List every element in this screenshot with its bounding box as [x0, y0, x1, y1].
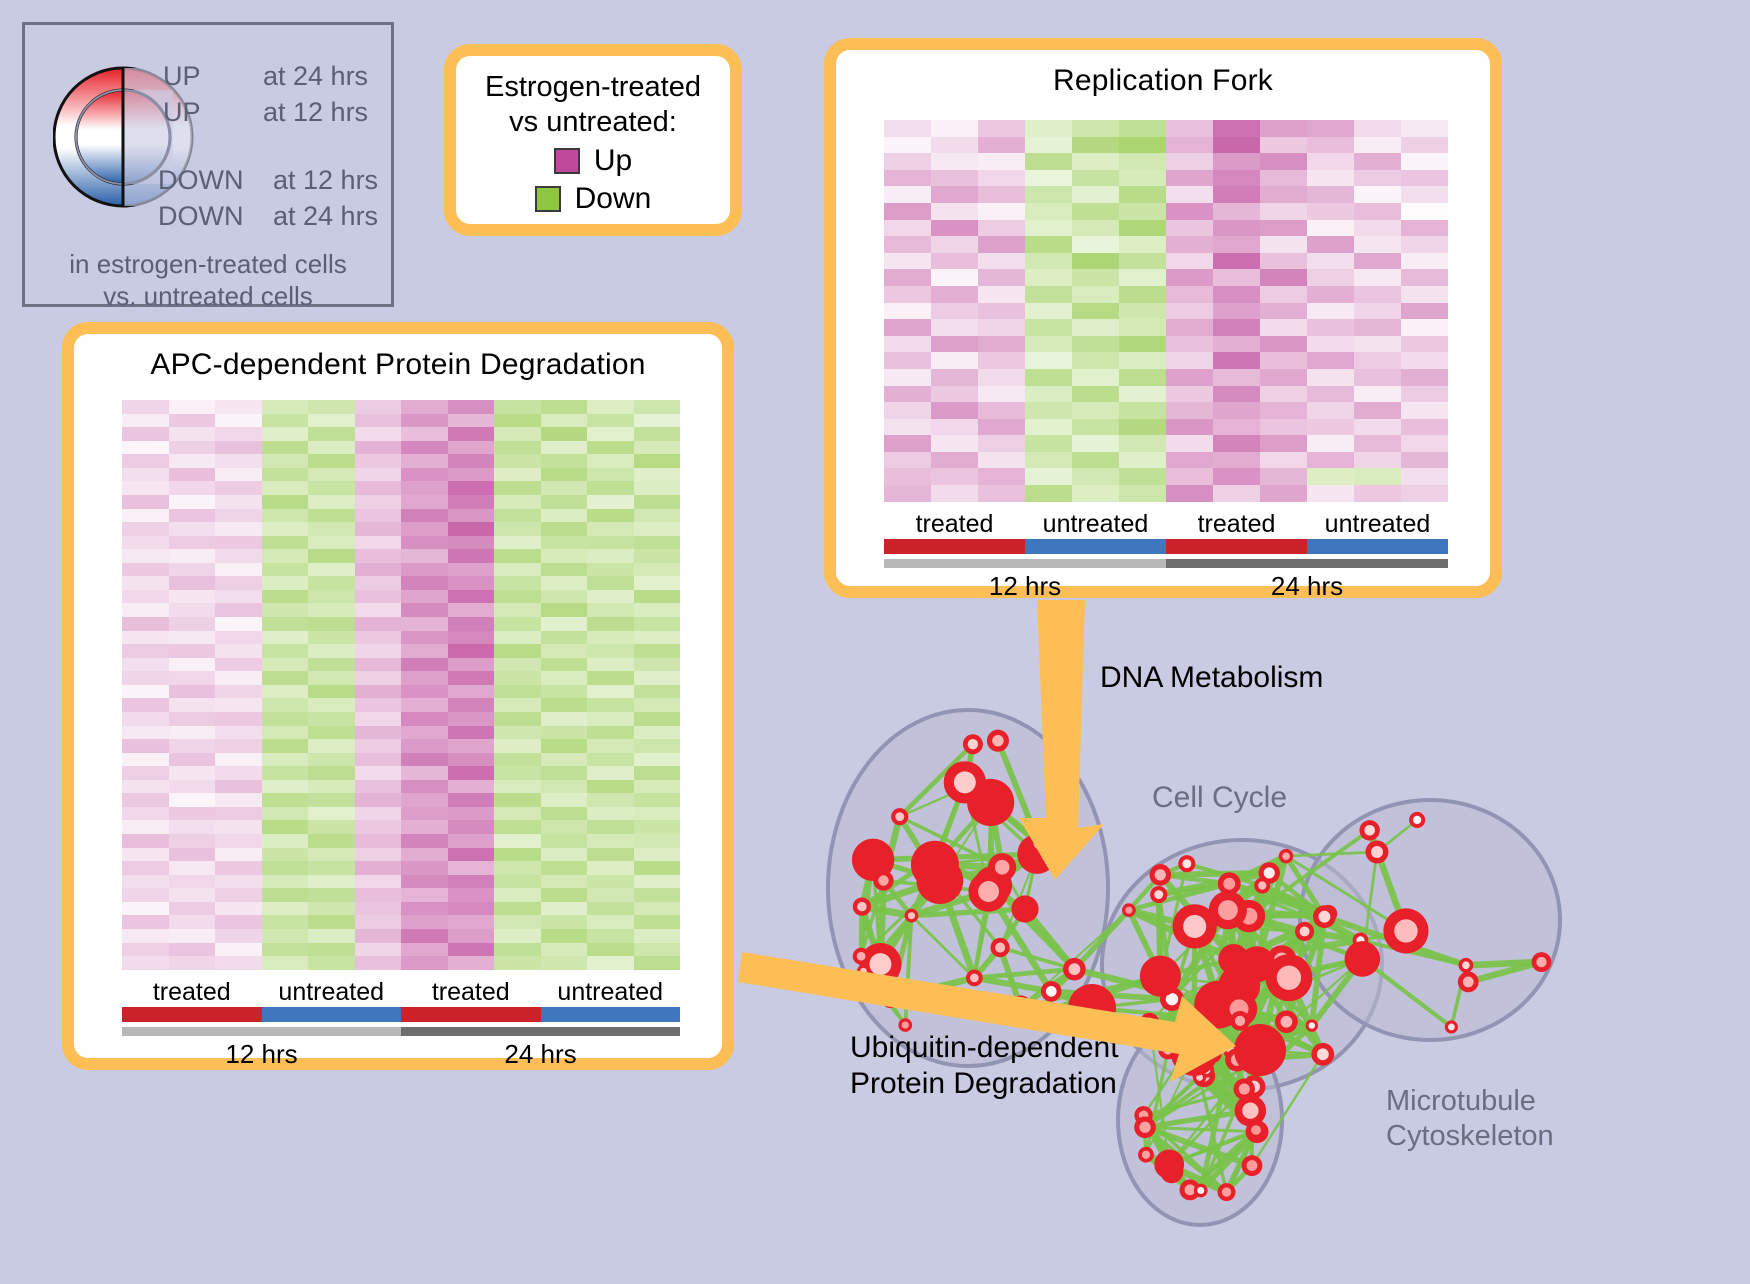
heatmap-cell [884, 220, 931, 237]
heatmap-cell [884, 137, 931, 154]
network-node-core [1282, 852, 1290, 860]
heatmap-cell [1166, 170, 1213, 187]
heatmap-cell [401, 753, 448, 767]
heatmap-cell [169, 848, 216, 862]
treatment-bar-segment [1025, 539, 1166, 554]
heatmap-cell [634, 888, 681, 902]
heatmap-cell [1072, 468, 1119, 485]
heatmap-cell [1401, 402, 1448, 419]
heatmap-cell [448, 929, 495, 943]
heatmap-cell [122, 888, 169, 902]
heatmap-cell [401, 536, 448, 550]
heatmap-cell [169, 441, 216, 455]
network-node[interactable] [1068, 984, 1116, 1032]
heatmap-cell [215, 522, 262, 536]
network-node-core [895, 812, 904, 821]
heatmap-cell [1260, 485, 1307, 502]
heatmap-cell [1213, 419, 1260, 436]
heatmap-cell [1354, 153, 1401, 170]
heatmap-cell [401, 929, 448, 943]
heatmap-cell [931, 319, 978, 336]
heatmap-cell [1213, 186, 1260, 203]
heatmap-cell [1119, 120, 1166, 137]
heatmap-cell [494, 698, 541, 712]
heatmap-cell [169, 915, 216, 929]
heatmap-cell [1166, 153, 1213, 170]
heatmap-cell [122, 943, 169, 957]
network-node[interactable] [1218, 944, 1249, 975]
heatmap-cell [1119, 203, 1166, 220]
heatmap-cell [1260, 352, 1307, 369]
heatmap-cell [1025, 369, 1072, 386]
heatmap-group-label: treated [122, 978, 262, 1007]
heatmap-cell [884, 269, 931, 286]
heatmap-cell [1166, 269, 1213, 286]
heatmap-cell [1307, 137, 1354, 154]
heatmap-cell [541, 698, 588, 712]
heatmap-cell [634, 875, 681, 889]
heatmap-apc [122, 400, 680, 970]
heatmap-cell [122, 644, 169, 658]
heatmap-cell [541, 509, 588, 523]
network-node[interactable] [911, 841, 959, 889]
heatmap-cell [931, 220, 978, 237]
heatmap-cell [978, 485, 1025, 502]
heatmap-cell [215, 861, 262, 875]
heatmap-cell [355, 617, 402, 631]
heatmap-cell [1025, 120, 1072, 137]
heatmap-group-label: untreated [262, 978, 402, 1007]
heatmap-cell [1260, 319, 1307, 336]
heatmap-cell [1213, 452, 1260, 469]
heatmap-cell [1025, 319, 1072, 336]
heatmap-cell [978, 336, 1025, 353]
heatmap-cell [122, 671, 169, 685]
heatmap-cell [215, 875, 262, 889]
heatmap-cell [1354, 236, 1401, 253]
heatmap-cell [978, 303, 1025, 320]
heatmap-cell [634, 400, 681, 414]
heatmap-cell [215, 495, 262, 509]
network-node-core [1154, 890, 1163, 899]
heatmap-cell [262, 644, 309, 658]
heatmap-cell [169, 644, 216, 658]
heatmap-cell [1401, 153, 1448, 170]
heatmap-cell [494, 549, 541, 563]
heatmap-cell [1307, 435, 1354, 452]
heatmap-cell [215, 590, 262, 604]
heatmap-cell [1307, 485, 1354, 502]
heatmap-cell [448, 902, 495, 916]
heatmap-cell [1166, 203, 1213, 220]
heatmap-cell [634, 468, 681, 482]
heatmap-cell [169, 753, 216, 767]
heatmap-cell [634, 631, 681, 645]
heatmap-cell [122, 590, 169, 604]
heatmap-cell [1166, 402, 1213, 419]
network-node[interactable] [1234, 1024, 1286, 1076]
heatmap-cell [1072, 485, 1119, 502]
heatmap-cell [587, 603, 634, 617]
heatmap-cell [448, 739, 495, 753]
cluster-label-dna-metabolism: DNA Metabolism [1100, 660, 1323, 696]
heatmap-cell [1025, 352, 1072, 369]
network-node-core [1448, 1024, 1455, 1031]
heatmap-cell [215, 685, 262, 699]
heatmap-cell [1260, 236, 1307, 253]
heatmap-cell [494, 590, 541, 604]
heatmap-cell [308, 400, 355, 414]
heatmap-cell [978, 402, 1025, 419]
network-node-core [1035, 1007, 1046, 1018]
heatmap-cell [1213, 253, 1260, 270]
heatmap-cell [215, 780, 262, 794]
heatmap-cell [122, 753, 169, 767]
network-node-core [857, 952, 866, 961]
heatmap-cell [541, 617, 588, 631]
heatmap-cell [541, 956, 588, 970]
treatment-bar-segment [122, 1007, 262, 1022]
heatmap-cell [308, 685, 355, 699]
heatmap-cell [587, 712, 634, 726]
heatmap-cell [634, 617, 681, 631]
heatmap-cell [541, 671, 588, 685]
legend-line-2: vs untreated: [456, 105, 730, 140]
heatmap-cell [1072, 170, 1119, 187]
heatmap-cell [1166, 220, 1213, 237]
heatmap-cell [169, 603, 216, 617]
heatmap-cell [494, 644, 541, 658]
heatmap-cell [1260, 435, 1307, 452]
network-node[interactable] [1140, 956, 1181, 997]
heatmap-cell [1401, 419, 1448, 436]
timepoint-label: 24 hrs [1166, 571, 1448, 602]
heatmap-cell [355, 861, 402, 875]
heatmap-cell [494, 509, 541, 523]
network-node-core [1536, 957, 1546, 967]
heatmap-cell [1166, 253, 1213, 270]
heatmap-cell [1260, 336, 1307, 353]
heatmap-cell [494, 807, 541, 821]
heatmap-cell [448, 766, 495, 780]
heatmap-cell [215, 617, 262, 631]
heatmap-cell [1401, 269, 1448, 286]
heatmap-cell [308, 753, 355, 767]
heatmap-cell [541, 726, 588, 740]
heatmap-cell [215, 888, 262, 902]
heatmap-cell [448, 793, 495, 807]
heatmap-cell [931, 352, 978, 369]
network-node-core [1015, 1001, 1027, 1013]
heatmap-cell [448, 468, 495, 482]
heatmap-cell [215, 915, 262, 929]
heatmap-cell [634, 712, 681, 726]
heatmap-cell [215, 956, 262, 970]
heatmap-cell [1213, 220, 1260, 237]
heatmap-cell [355, 427, 402, 441]
heatmap-cell [1354, 303, 1401, 320]
heatmap-cell [1166, 137, 1213, 154]
network-node-core [869, 953, 891, 975]
heatmap-cell [1354, 336, 1401, 353]
heatmap-cell [308, 793, 355, 807]
heatmap-cell [541, 481, 588, 495]
heatmap-cell [1072, 435, 1119, 452]
heatmap-cell [308, 848, 355, 862]
heatmap-cell [355, 834, 402, 848]
heatmap-cell [1260, 269, 1307, 286]
network-node-core [1413, 816, 1421, 824]
heatmap-cell [262, 739, 309, 753]
heatmap-cell [978, 120, 1025, 137]
heatmap-cell [587, 400, 634, 414]
heatmap-cell [494, 603, 541, 617]
network-graph [790, 620, 1750, 1279]
heatmap-cell [1119, 319, 1166, 336]
heatmap-cell [634, 549, 681, 563]
heatmap-cell [587, 454, 634, 468]
network-node-core [1046, 986, 1057, 997]
heatmap-cell [1354, 402, 1401, 419]
heatmap-cell [1213, 485, 1260, 502]
heatmap-cell [978, 435, 1025, 452]
heatmap-cell [215, 834, 262, 848]
heatmap-cell [587, 943, 634, 957]
network-node[interactable] [1011, 895, 1038, 922]
heatmap-cell [1166, 369, 1213, 386]
heatmap-cell [634, 481, 681, 495]
heatmap-cell [122, 468, 169, 482]
network-node-core [1218, 900, 1238, 920]
heatmap-cell [1354, 452, 1401, 469]
heatmap-cell [494, 753, 541, 767]
heatmap-cell [169, 712, 216, 726]
heatmap-cell [448, 522, 495, 536]
heatmap-cell [448, 780, 495, 794]
heatmap-cell [1119, 253, 1166, 270]
heatmap-cell [355, 875, 402, 889]
heatmap-cell [1213, 468, 1260, 485]
heatmap-cell [1213, 303, 1260, 320]
heatmap-cell [169, 576, 216, 590]
heatmap-cell [978, 269, 1025, 286]
network-node-core [860, 968, 867, 975]
heatmap-cell [308, 739, 355, 753]
panel-title-replication-fork: Replication Fork [836, 64, 1490, 98]
heatmap-cell [1354, 220, 1401, 237]
heatmap-cell [494, 522, 541, 536]
heatmap-cell [262, 888, 309, 902]
heatmap-cell [1025, 269, 1072, 286]
heatmap-cell [494, 495, 541, 509]
heatmap-cell [262, 712, 309, 726]
heatmap-cell [122, 549, 169, 563]
heatmap-cell [215, 658, 262, 672]
heatmap-cell [541, 820, 588, 834]
heatmap-cell [262, 400, 309, 414]
heatmap-cell [1401, 186, 1448, 203]
heatmap-cell [494, 576, 541, 590]
heatmap-cell [884, 203, 931, 220]
heatmap-cell [494, 481, 541, 495]
heatmap-cell [448, 658, 495, 672]
heatmap-cell [122, 780, 169, 794]
heatmap-cell [401, 834, 448, 848]
heatmap-cell [401, 671, 448, 685]
heatmap-cell [1072, 269, 1119, 286]
heatmap-cell [448, 875, 495, 889]
heatmap-cell [1401, 336, 1448, 353]
heatmap-cell [262, 590, 309, 604]
heatmap-cell [884, 468, 931, 485]
heatmap-cell [931, 419, 978, 436]
heatmap-cell [634, 793, 681, 807]
heatmap-cell [308, 658, 355, 672]
heatmap-cell [122, 427, 169, 441]
heatmap-cell [262, 495, 309, 509]
network-node-core [1139, 1122, 1150, 1133]
heatmap-cell [541, 875, 588, 889]
heatmap-cell [448, 698, 495, 712]
network-node[interactable] [1345, 941, 1381, 977]
heatmap-cell [587, 875, 634, 889]
heatmap-cell [1213, 402, 1260, 419]
heatmap-cell [1119, 269, 1166, 286]
heatmap-cell [1260, 137, 1307, 154]
heatmap-cell [541, 441, 588, 455]
heatmap-cell [262, 427, 309, 441]
heatmap-cell [355, 888, 402, 902]
heatmap-cell [587, 617, 634, 631]
treatment-bar-segment [401, 1007, 541, 1022]
heatmap-cell [634, 956, 681, 970]
heatmap-cell [401, 522, 448, 536]
panel-title-apc: APC-dependent Protein Degradation [74, 348, 722, 382]
heatmap-cell [1119, 369, 1166, 386]
heatmap-cell [169, 617, 216, 631]
heatmap-cell [169, 671, 216, 685]
heatmap-cell [1072, 253, 1119, 270]
heatmap-cell [634, 861, 681, 875]
heatmap-cell [494, 671, 541, 685]
heatmap-cell [884, 303, 931, 320]
network-node-core [995, 860, 1010, 875]
heatmap-cell [215, 427, 262, 441]
heatmap-cell [169, 861, 216, 875]
heatmap-cell [355, 495, 402, 509]
heatmap-cell [401, 549, 448, 563]
heatmap-cell [541, 766, 588, 780]
heatmap-cell [931, 137, 978, 154]
heatmap-cell [448, 400, 495, 414]
heatmap-cell [587, 522, 634, 536]
heatmap-cell [1025, 286, 1072, 303]
heatmap-cell [355, 848, 402, 862]
heatmap-cell [884, 485, 931, 502]
heatmap-cell [541, 427, 588, 441]
heatmap-cell [262, 563, 309, 577]
legend-swatch-up [554, 148, 580, 174]
heatmap-cell [494, 739, 541, 753]
heatmap-cell [931, 369, 978, 386]
heatmap-cell [884, 186, 931, 203]
heatmap-cell [978, 236, 1025, 253]
network-node-core [902, 1022, 909, 1029]
heatmap-cell [401, 780, 448, 794]
heatmap-cell [215, 698, 262, 712]
heatmap-cell [931, 269, 978, 286]
heatmap-cell [308, 943, 355, 957]
heatmap-cell [169, 658, 216, 672]
heatmap-cell [122, 902, 169, 916]
heatmap-cell [1354, 137, 1401, 154]
heatmap-cell [355, 902, 402, 916]
heatmap-cell [1260, 253, 1307, 270]
heatmap-cell [1354, 269, 1401, 286]
timepoint-color-bar-replication-fork [884, 559, 1448, 568]
heatmap-cell [401, 726, 448, 740]
heatmap-cell [401, 427, 448, 441]
heatmap-cell [1213, 120, 1260, 137]
heatmap-cell [448, 617, 495, 631]
timepoint-bar-segment [1166, 559, 1448, 568]
heatmap-cell [1166, 352, 1213, 369]
network-node-core [1197, 1187, 1204, 1194]
heatmap-cell [634, 902, 681, 916]
heatmap-cell [122, 563, 169, 577]
heatmap-cell [1025, 303, 1072, 320]
heatmap-cell [1401, 286, 1448, 303]
heatmap-cell [215, 793, 262, 807]
heatmap-cell [978, 203, 1025, 220]
network-node-core [1222, 1187, 1231, 1196]
heatmap-cell [587, 848, 634, 862]
heatmap-cell [262, 726, 309, 740]
heatmap-cell [122, 400, 169, 414]
heatmap-cell [1119, 220, 1166, 237]
heatmap-cell [448, 834, 495, 848]
heatmap-cell [355, 739, 402, 753]
heatmap-cell [634, 807, 681, 821]
heatmap-cell [634, 726, 681, 740]
heatmap-cell [401, 956, 448, 970]
network-node-core [1069, 963, 1081, 975]
heatmap-cell [169, 807, 216, 821]
heatmap-cell [1213, 352, 1260, 369]
heatmap-cell [1025, 203, 1072, 220]
heatmap-cell [1401, 386, 1448, 403]
heatmap-cell [884, 319, 931, 336]
heatmap-cell [1072, 203, 1119, 220]
heatmap-cell [1307, 352, 1354, 369]
cluster-label-microtubule-cytoskeleton: Microtubule Cytoskeleton [1386, 1084, 1554, 1154]
heatmap-cell [122, 820, 169, 834]
heatmap-cell [308, 915, 355, 929]
heatmap-cell [355, 712, 402, 726]
heatmap-cell [634, 848, 681, 862]
network-node[interactable] [1154, 1149, 1184, 1179]
heatmap-cell [169, 698, 216, 712]
heatmap-cell [448, 888, 495, 902]
network-node-core [970, 974, 979, 983]
heatmap-cell [541, 468, 588, 482]
heatmap-cell [215, 400, 262, 414]
heatmap-cell [1166, 186, 1213, 203]
heatmap-cell [541, 861, 588, 875]
heatmap-cell [1401, 236, 1448, 253]
heatmap-cell [122, 848, 169, 862]
heatmap-cell [401, 441, 448, 455]
